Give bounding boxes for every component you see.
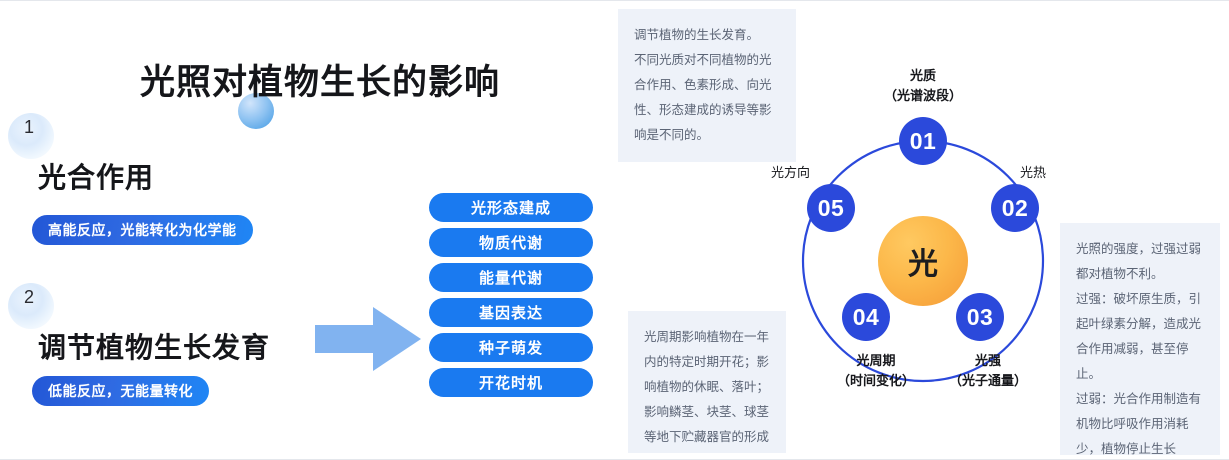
diagram-node-05[interactable]: 05 <box>807 184 855 232</box>
diagram-center-node: 光 <box>878 216 968 306</box>
page-title: 光照对植物生长的影响 <box>140 54 500 105</box>
effect-button[interactable]: 光形态建成 <box>429 193 593 222</box>
diagram-label-02: 光热 <box>1020 163 1080 183</box>
diagram-label-01: 光质（光谱波段） <box>873 66 973 106</box>
step-headline-2: 调节植物生长发育 <box>38 326 270 366</box>
step-pill-2: 低能反应，无能量转化 <box>32 376 209 406</box>
diagram-node-04[interactable]: 04 <box>842 293 890 341</box>
diagram-node-01[interactable]: 01 <box>899 117 947 165</box>
effect-button[interactable]: 开花时机 <box>429 368 593 397</box>
step-headline-1: 光合作用 <box>38 156 154 196</box>
effect-button-list: 光形态建成 物质代谢 能量代谢 基因表达 种子萌发 开花时机 <box>429 193 593 397</box>
diagram-label-03: 光强（光子通量） <box>938 351 1038 391</box>
infographic-page: 光照对植物生长的影响 1 光合作用 高能反应，光能转化为化学能 2 调节植物生长… <box>0 0 1229 460</box>
effect-button[interactable]: 基因表达 <box>429 298 593 327</box>
right-arrow-icon <box>315 301 421 377</box>
diagram-label-04: 光周期（时间变化） <box>826 351 926 391</box>
light-factor-diagram: 光 01 02 03 04 05 光质（光谱波段） 光热 光强（光子通量） 光周… <box>758 63 1088 393</box>
effect-button[interactable]: 种子萌发 <box>429 333 593 362</box>
step-number-2: 2 <box>24 287 34 308</box>
diagram-node-02[interactable]: 02 <box>991 184 1039 232</box>
diagram-node-03[interactable]: 03 <box>956 293 1004 341</box>
effect-button[interactable]: 能量代谢 <box>429 263 593 292</box>
step-number-1: 1 <box>24 117 34 138</box>
effect-button[interactable]: 物质代谢 <box>429 228 593 257</box>
step-pill-1: 高能反应，光能转化为化学能 <box>32 215 253 245</box>
diagram-label-05: 光方向 <box>750 163 810 183</box>
